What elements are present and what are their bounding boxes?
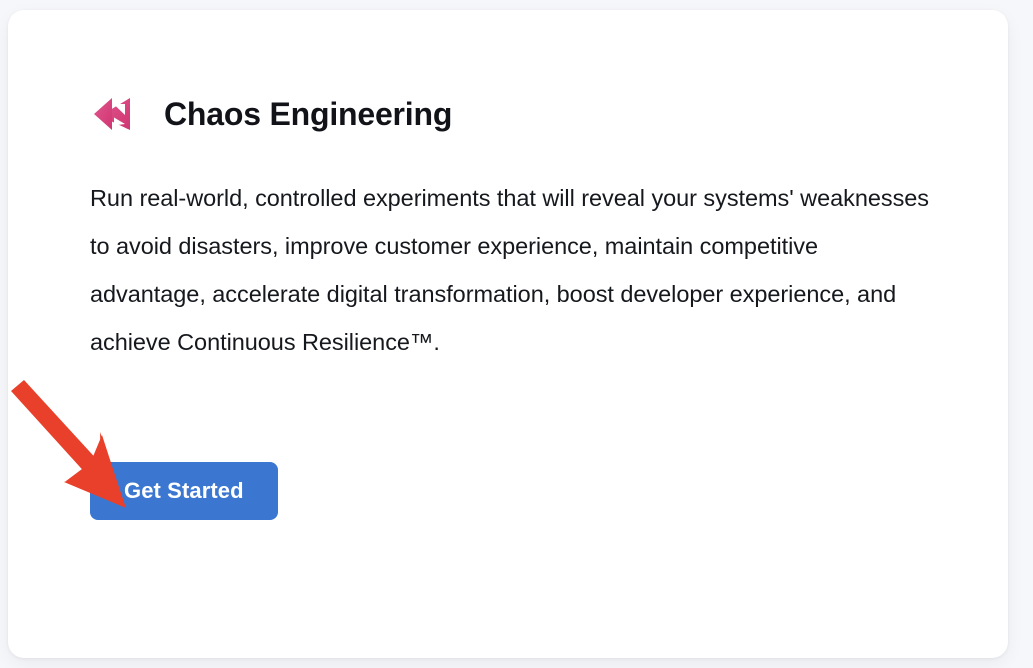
page-title: Chaos Engineering xyxy=(164,94,452,134)
gremlin-chaos-logo-icon xyxy=(92,94,132,134)
card-header: Chaos Engineering xyxy=(90,88,968,140)
chaos-engineering-card: Chaos Engineering Run real-world, contro… xyxy=(8,10,1008,658)
card-content: Chaos Engineering Run real-world, contro… xyxy=(90,88,968,520)
cta-container: Get Started xyxy=(90,366,968,520)
get-started-button[interactable]: Get Started xyxy=(90,462,278,520)
card-description: Run real-world, controlled experiments t… xyxy=(90,140,930,366)
screenshot-root: Chaos Engineering Run real-world, contro… xyxy=(0,0,1033,668)
